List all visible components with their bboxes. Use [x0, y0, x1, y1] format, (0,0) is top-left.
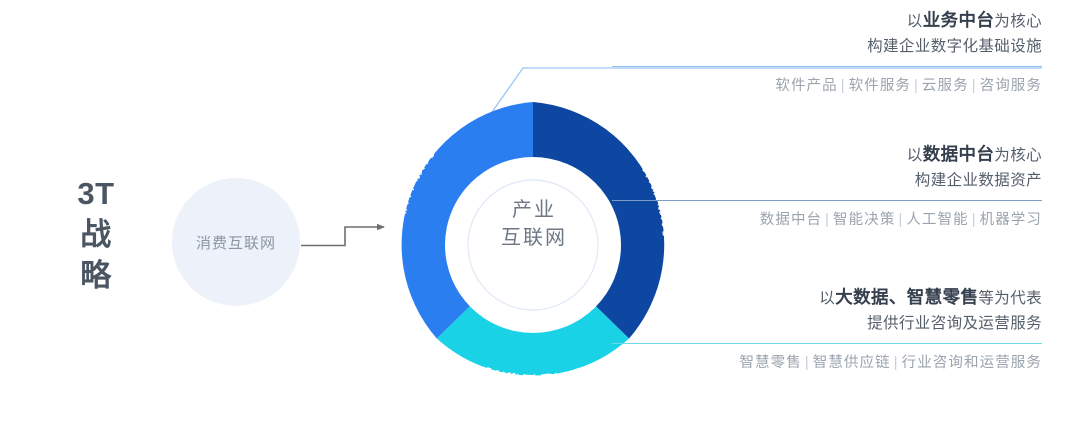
info-block-it: 以业务中台为核心 构建企业数字化基础设施 软件产品|软件服务|云服务|咨询服务	[612, 6, 1042, 97]
info-head-prefix: 以	[907, 13, 923, 30]
flow-arrow-icon	[301, 227, 384, 246]
tag-separator: |	[802, 355, 813, 371]
info-head-strong: 业务中台	[923, 10, 995, 30]
info-tags-dt: 数据中台|智能决策|人工智能|机器学习	[612, 210, 1042, 230]
info-subline-ot: 提供行业咨询及运营服务	[612, 311, 1042, 336]
tag-item: 软件服务	[849, 78, 911, 94]
tag-item: 智慧供应链	[813, 355, 891, 371]
info-subline-dt: 构建企业数据资产	[612, 168, 1042, 193]
info-head-it: 以业务中台为核心	[612, 6, 1042, 34]
info-tags-ot: 智慧零售|智慧供应链|行业咨询和运营服务	[612, 353, 1042, 373]
info-head-strong: 数据中台	[923, 144, 995, 164]
tag-separator: |	[911, 78, 922, 94]
info-head-prefix: 以	[907, 147, 923, 164]
tag-separator: |	[969, 78, 980, 94]
tag-separator: |	[969, 212, 980, 228]
tag-item: 人工智能	[906, 212, 968, 228]
tag-item: 数据中台	[760, 212, 822, 228]
info-block-ot: 以大数据、智慧零售等为代表 提供行业咨询及运营服务 智慧零售|智慧供应链|行业咨…	[612, 283, 1042, 374]
info-subline-it: 构建企业数字化基础设施	[612, 34, 1042, 59]
info-head-dt: 以数据中台为核心	[612, 140, 1042, 168]
info-block-dt: 以数据中台为核心 构建企业数据资产 数据中台|智能决策|人工智能|机器学习	[612, 140, 1042, 231]
tag-item: 云服务	[922, 78, 969, 94]
info-head-suffix: 为核心	[994, 13, 1042, 30]
info-rule-it	[612, 66, 1042, 67]
donut-center-label: 产业 互联网	[446, 196, 622, 253]
tag-item: 智能决策	[833, 212, 895, 228]
tag-item: 软件产品	[775, 78, 837, 94]
tag-separator: |	[838, 78, 849, 94]
tag-separator: |	[891, 355, 902, 371]
info-head-ot: 以大数据、智慧零售等为代表	[612, 283, 1042, 311]
tag-item: 咨询服务	[980, 78, 1042, 94]
tag-item: 行业咨询和运营服务	[902, 355, 1042, 371]
tag-separator: |	[895, 212, 906, 228]
info-head-strong: 大数据、智慧零售	[835, 287, 978, 307]
info-head-prefix: 以	[819, 290, 835, 307]
tag-item: 机器学习	[980, 212, 1042, 228]
tag-separator: |	[822, 212, 833, 228]
diagram-canvas: 3T 战 略 消费互联网	[0, 0, 1080, 433]
info-head-suffix: 为核心	[994, 147, 1042, 164]
info-head-suffix: 等为代表	[978, 290, 1042, 307]
info-rule-ot	[612, 343, 1042, 344]
tag-item: 智慧零售	[739, 355, 801, 371]
info-tags-it: 软件产品|软件服务|云服务|咨询服务	[612, 76, 1042, 96]
info-rule-dt	[612, 200, 1042, 201]
